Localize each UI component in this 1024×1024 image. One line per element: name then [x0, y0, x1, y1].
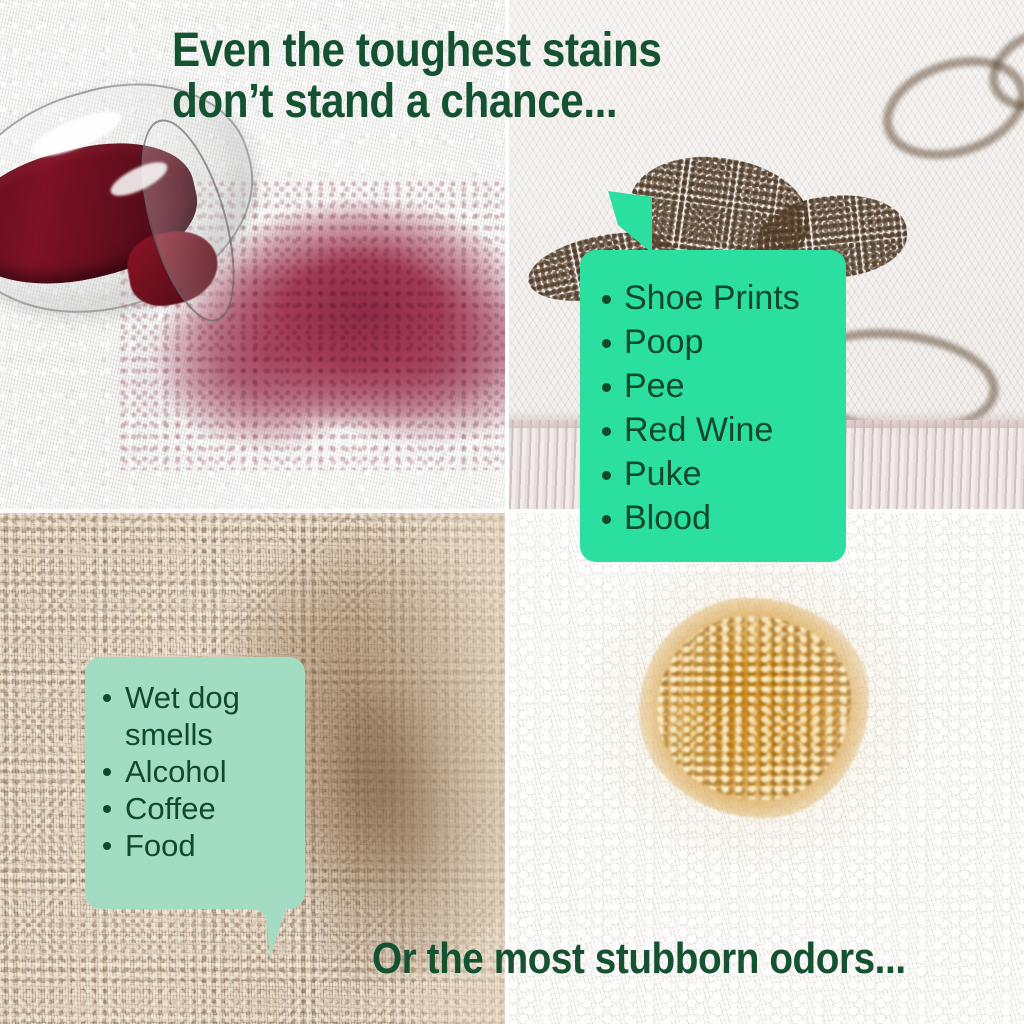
- list-item: Blood: [598, 496, 828, 540]
- speech-bubble-tail-stains: [606, 191, 652, 253]
- list-item: Food: [99, 827, 291, 864]
- ad-canvas: Even the toughest stains don’t stand a c…: [0, 0, 1024, 1024]
- list-item: Pee: [598, 364, 828, 408]
- list-item: Wet dog smells: [99, 679, 291, 753]
- speech-bubble-stains: Shoe Prints Poop Pee Red Wine Puke Blood: [580, 250, 846, 562]
- speech-bubble-odors: Wet dog smells Alcohol Coffee Food: [85, 657, 305, 909]
- stains-list: Shoe Prints Poop Pee Red Wine Puke Blood: [598, 276, 828, 540]
- list-item: Shoe Prints: [598, 276, 828, 320]
- speech-bubble-tail-odors: [244, 900, 288, 958]
- headline-top: Even the toughest stains don’t stand a c…: [172, 26, 661, 128]
- list-item: Alcohol: [99, 753, 291, 790]
- list-item: Coffee: [99, 790, 291, 827]
- odors-list: Wet dog smells Alcohol Coffee Food: [99, 679, 291, 864]
- orange-vomit-stain: [639, 598, 869, 818]
- list-item: Red Wine: [598, 408, 828, 452]
- headline-bottom: Or the most stubborn odors...: [372, 936, 906, 983]
- list-item: Puke: [598, 452, 828, 496]
- list-item: Poop: [598, 320, 828, 364]
